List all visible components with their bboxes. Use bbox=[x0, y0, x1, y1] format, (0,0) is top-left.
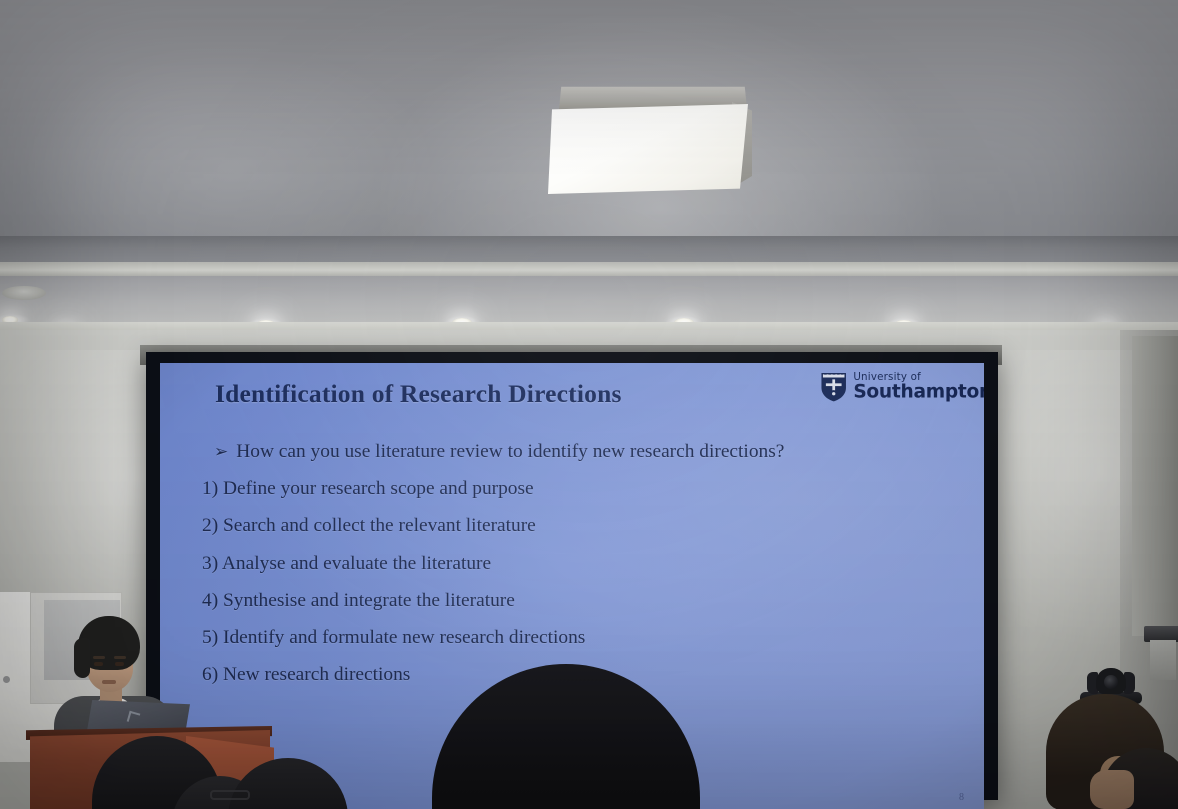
arrow-bullet-icon: ➢ bbox=[214, 442, 228, 462]
slide-list-item: 5) Identify and formulate new research d… bbox=[202, 627, 942, 649]
slide-question-line: ➢How can you use literature review to id… bbox=[202, 441, 942, 463]
slide-list-item: 2) Search and collect the relevant liter… bbox=[202, 515, 942, 537]
presenter-eyebrow-left bbox=[93, 656, 105, 659]
logo-line-southampton: Southampton bbox=[853, 383, 984, 402]
ceiling-vent-icon bbox=[2, 286, 46, 300]
light-diffuser-panel bbox=[548, 104, 748, 194]
presenter-hair-side bbox=[74, 638, 90, 678]
cabinet-indicator-light bbox=[3, 676, 10, 683]
slide-title: Identification of Research Directions bbox=[215, 379, 622, 409]
presenter-eye-right bbox=[115, 662, 124, 666]
audience-glasses-icon bbox=[210, 790, 250, 800]
presenter-mouth bbox=[102, 680, 116, 684]
slide-list-item: 4) Synthesise and integrate the literatu… bbox=[202, 590, 942, 612]
slide-question-text: How can you use literature review to ide… bbox=[236, 441, 784, 462]
logo-wordmark: University of Southampton bbox=[853, 372, 984, 402]
slide-list-item: 3) Analyse and evaluate the literature bbox=[202, 553, 942, 575]
presenter-eyebrow-right bbox=[114, 656, 126, 659]
university-logo: University of Southampton bbox=[820, 371, 984, 402]
right-wall-return bbox=[1132, 336, 1178, 636]
ceiling-soffit bbox=[0, 276, 1178, 328]
southampton-shield-crest-icon bbox=[820, 371, 847, 402]
camera-lens-icon bbox=[1104, 675, 1118, 689]
square-ceiling-light-icon bbox=[546, 86, 752, 196]
slide-body: ➢How can you use literature review to id… bbox=[202, 441, 942, 701]
slide-page-number: 8 bbox=[959, 792, 964, 803]
presenter-eye-left bbox=[94, 662, 103, 666]
slide-list-item: 1) Define your research scope and purpos… bbox=[202, 478, 942, 500]
lecture-hall-photo: Identification of Research Directions Un… bbox=[0, 0, 1178, 809]
audience-face bbox=[1090, 770, 1134, 809]
